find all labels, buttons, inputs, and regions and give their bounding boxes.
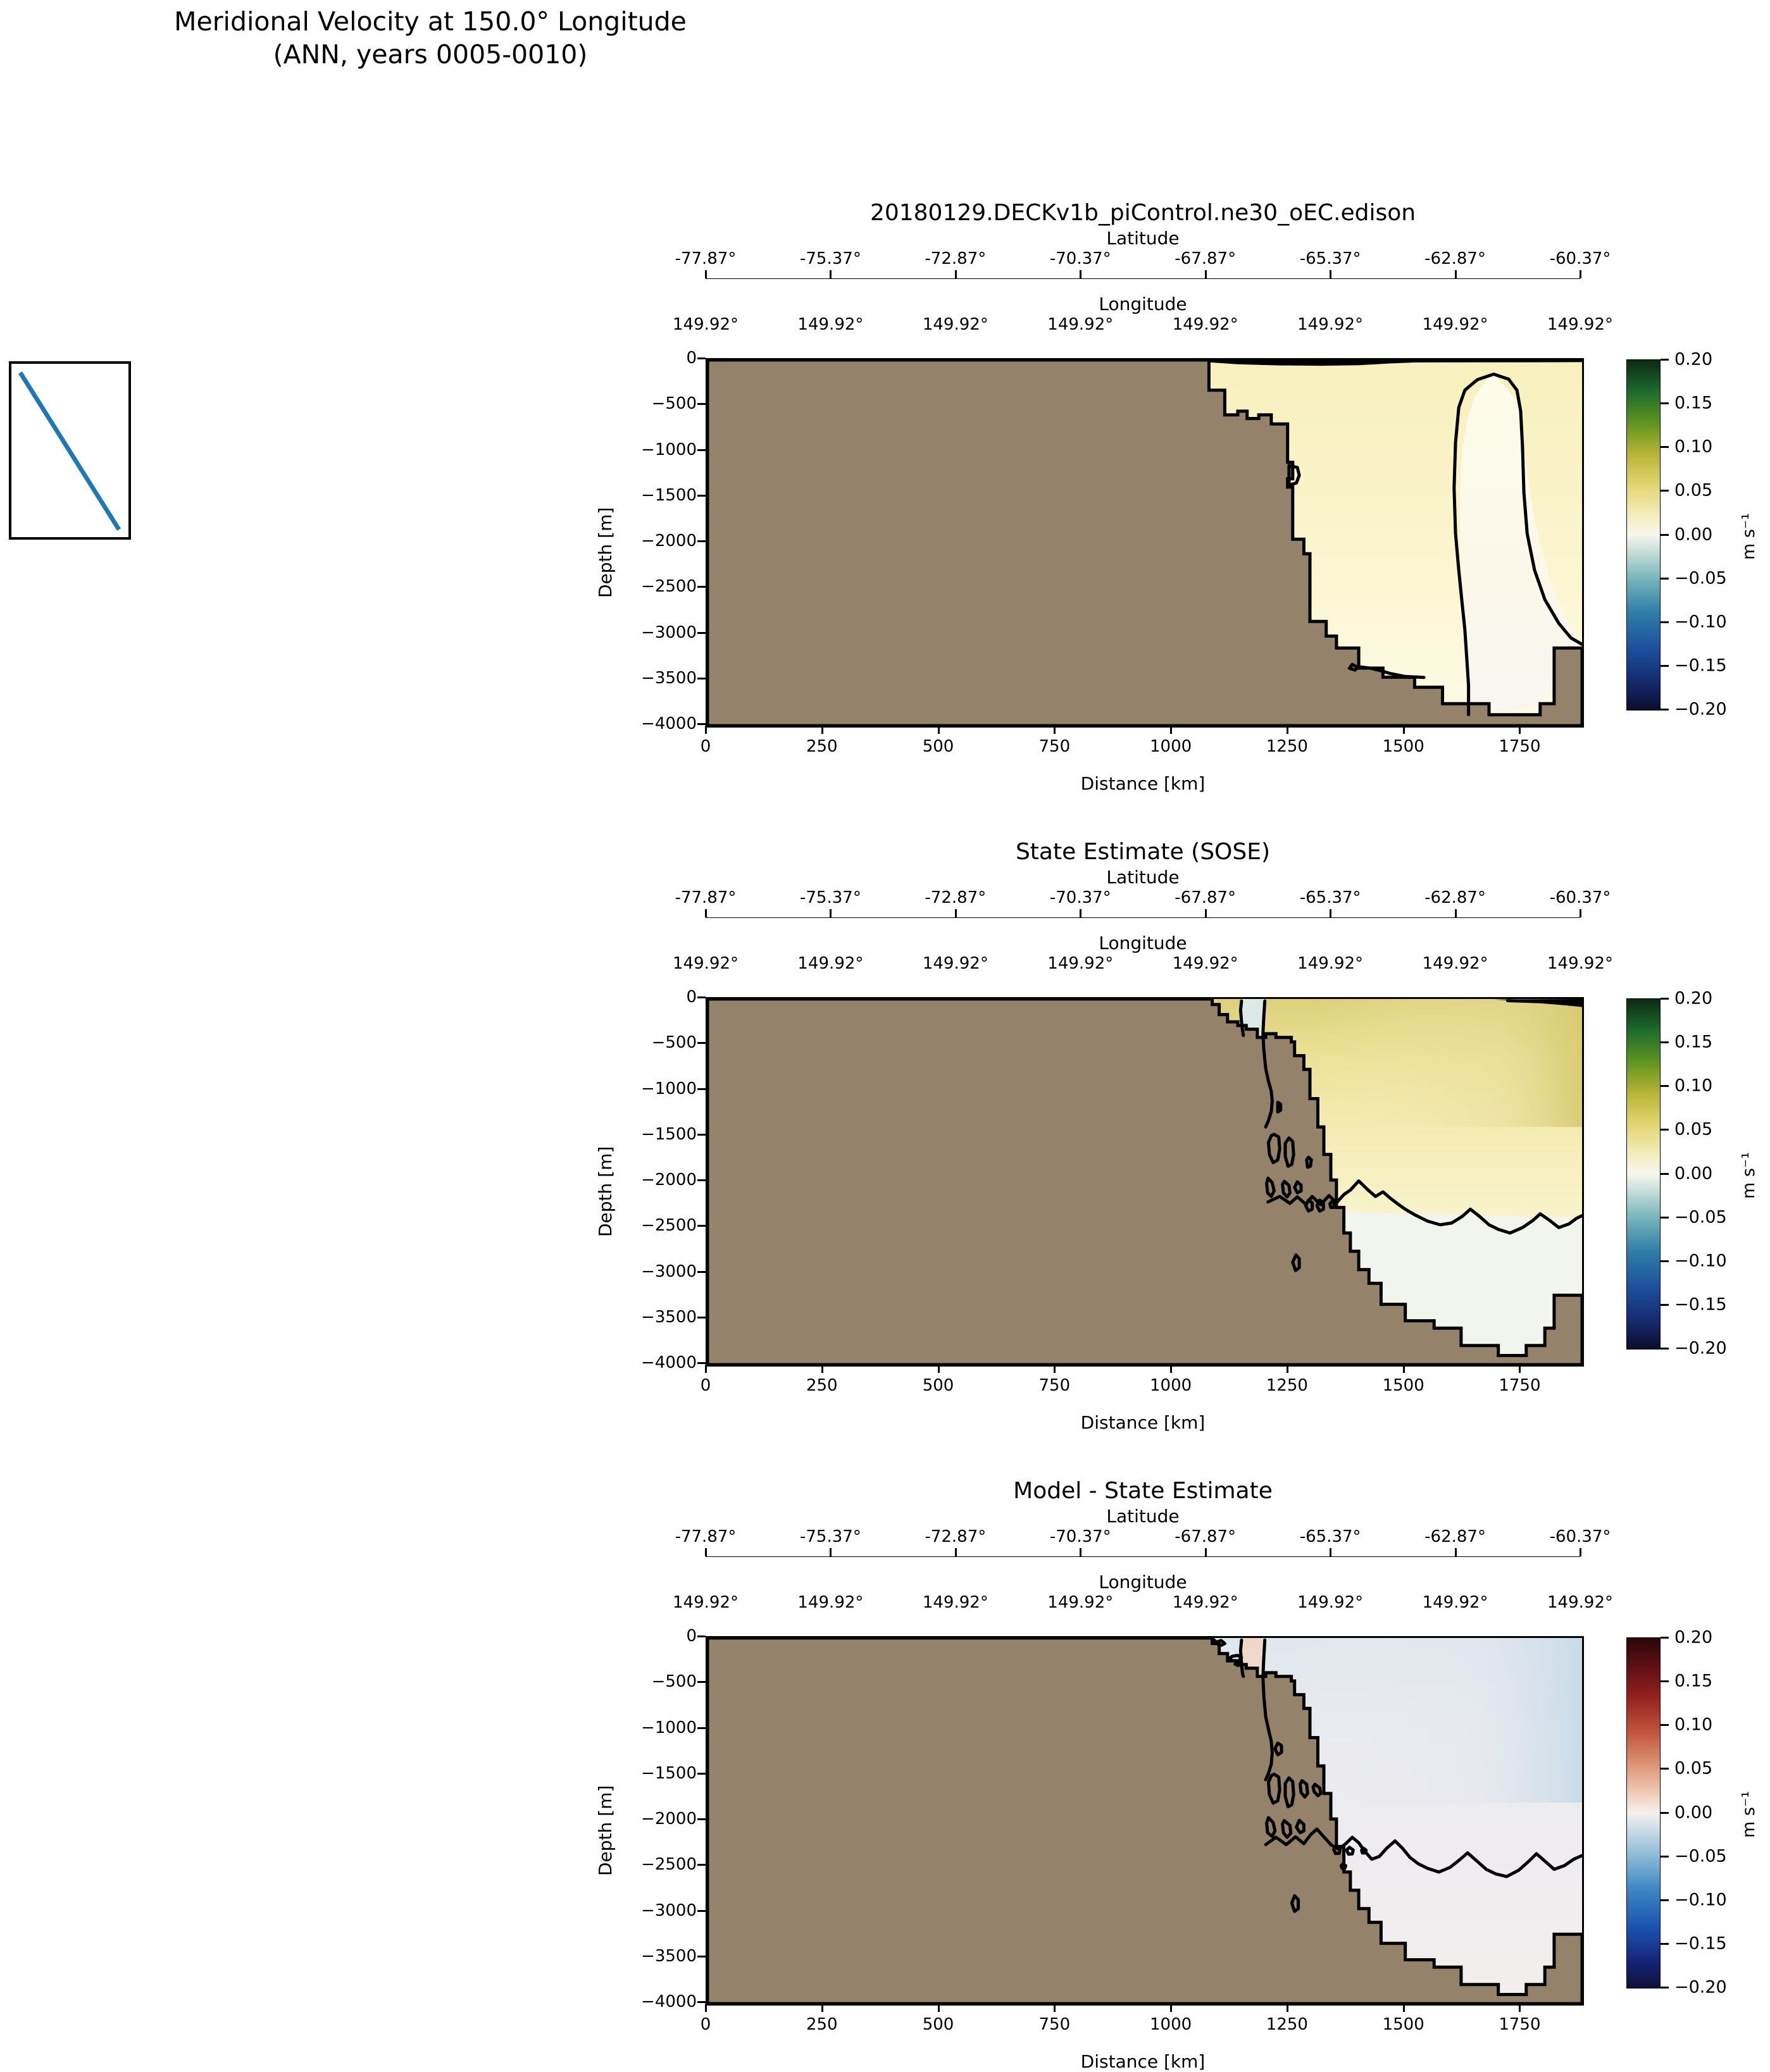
colorbar-tick-mark <box>1661 621 1669 623</box>
latitude-tick-label: -60.37° <box>1550 249 1611 268</box>
distance-tick-label: 500 <box>923 1376 954 1395</box>
latitude-tick-mark <box>705 909 707 917</box>
depth-tick-mark <box>697 1225 706 1227</box>
longitude-tick-label: 149.92° <box>1547 1593 1613 1612</box>
latitude-axis-spine <box>706 278 1580 279</box>
longitude-tick-label: 149.92° <box>1047 315 1113 334</box>
colorbar-tick-label: 0.05 <box>1674 1759 1712 1778</box>
latitude-tick-mark <box>1205 1548 1207 1556</box>
depth-tick-mark <box>697 1271 706 1273</box>
depth-tick-mark <box>697 1179 706 1181</box>
colorbar-tick-mark <box>1661 1680 1669 1682</box>
colorbar-tick-label: 0.00 <box>1674 1163 1712 1183</box>
latitude-tick-label: -60.37° <box>1550 888 1611 907</box>
depth-tick-label: −3500 <box>641 1308 697 1327</box>
depth-tick-label: 0 <box>686 349 697 368</box>
depth-tick-label: −1500 <box>641 486 697 505</box>
latitude-tick-label: -77.87° <box>675 1527 737 1546</box>
colorbar-tick-label: −0.05 <box>1674 1846 1727 1866</box>
longitude-tick-label: 149.92° <box>1297 954 1363 973</box>
distance-axis-label: Distance [km] <box>706 1412 1580 1433</box>
longitude-tick-label: 149.92° <box>1297 315 1363 334</box>
colorbar-tick-mark <box>1661 490 1669 492</box>
longitude-tick-label: 149.92° <box>923 1593 988 1612</box>
distance-tick-mark <box>938 726 940 734</box>
depth-tick-label: 0 <box>686 1627 697 1646</box>
latitude-tick-label: -70.37° <box>1050 1527 1111 1546</box>
distance-tick-mark <box>1403 1365 1405 1373</box>
colorbar-tick-label: 0.00 <box>1674 1802 1712 1822</box>
distance-tick-mark <box>1287 2004 1288 2012</box>
latitude-tick-mark <box>955 909 957 917</box>
latitude-tick-label: -65.37° <box>1300 888 1361 907</box>
distance-tick-mark <box>1170 2004 1172 2012</box>
panel-title: 20180129.DECKv1b_piControl.ne30_oEC.edis… <box>706 200 1580 226</box>
distance-tick-label: 1000 <box>1150 1376 1192 1395</box>
depth-axis-label: Depth [m] <box>595 1146 616 1237</box>
colorbar-tick-mark <box>1661 709 1669 710</box>
latitude-tick-labels: -77.87°-75.37°-72.87°-70.37°-67.87°-65.3… <box>706 888 1580 910</box>
latitude-axis-label: Latitude <box>706 1506 1580 1527</box>
distance-tick-mark <box>1170 1365 1172 1373</box>
distance-tick-label: 1250 <box>1266 1376 1308 1395</box>
colorbar-ticks: 0.200.150.100.050.00−0.05−0.10−0.15−0.20 <box>1661 359 1743 709</box>
depth-tick-label: −4000 <box>641 714 697 733</box>
velocity-field <box>707 999 1582 1365</box>
colorbar-tick-mark <box>1661 1260 1669 1262</box>
depth-tick-mark <box>697 540 706 542</box>
latitude-tick-mark <box>1330 909 1331 917</box>
latitude-tick-label: -65.37° <box>1300 1527 1361 1546</box>
colorbar <box>1626 998 1661 1349</box>
longitude-tick-label: 149.92° <box>1423 1593 1488 1612</box>
distance-tick-mark <box>1054 1365 1056 1373</box>
colorbar-tick-mark <box>1661 578 1669 580</box>
depth-axis: 0−500−1000−1500−2000−2500−3000−3500−4000 <box>649 997 706 1363</box>
colorbar-ticks: 0.200.150.100.050.00−0.05−0.10−0.15−0.20 <box>1661 998 1743 1348</box>
latitude-tick-mark <box>1205 909 1207 917</box>
longitude-tick-label: 149.92° <box>1047 954 1113 973</box>
colorbar <box>1626 359 1661 710</box>
distance-tick-label: 0 <box>701 2015 711 2034</box>
depth-tick-mark <box>697 1773 706 1775</box>
distance-tick-mark <box>705 2004 707 2012</box>
colorbar-tick-mark <box>1661 402 1669 404</box>
depth-tick-mark <box>697 1818 706 1820</box>
latitude-axis-spine <box>706 917 1580 918</box>
distance-tick-label: 1750 <box>1499 1376 1540 1395</box>
colorbar-tick-mark <box>1661 1637 1669 1639</box>
depth-tick-label: −3000 <box>641 1262 697 1281</box>
colorbar-tick-label: −0.20 <box>1674 1339 1727 1358</box>
depth-tick-label: −4000 <box>641 1353 697 1372</box>
colorbar-tick-label: 0.10 <box>1674 437 1712 457</box>
latitude-tick-label: -65.37° <box>1300 249 1361 268</box>
distance-tick-mark <box>705 726 707 734</box>
depth-tick-mark <box>697 678 706 679</box>
latitude-tick-mark <box>1080 1548 1081 1556</box>
longitude-tick-label: 149.92° <box>1047 1593 1113 1612</box>
depth-tick-label: −500 <box>652 394 697 413</box>
distance-tick-mark <box>1054 2004 1056 2012</box>
depth-tick-mark <box>697 1134 706 1136</box>
colorbar-tick-label: −0.15 <box>1674 655 1727 675</box>
latitude-tick-label: -62.87° <box>1424 1527 1486 1546</box>
depth-tick-label: −500 <box>652 1033 697 1052</box>
distance-tick-mark <box>1403 2004 1405 2012</box>
depth-tick-label: −1000 <box>641 1718 697 1737</box>
colorbar-tick-mark <box>1661 359 1669 361</box>
latitude-tick-label: -72.87° <box>925 249 986 268</box>
suptitle-line-1: Meridional Velocity at 150.0° Longitude <box>0 5 861 38</box>
section-plot-area <box>706 997 1584 1367</box>
depth-tick-label: −4000 <box>641 1992 697 2011</box>
colorbar-tick-mark <box>1661 1173 1669 1175</box>
depth-tick-label: −2000 <box>641 1170 697 1189</box>
longitude-tick-labels: 149.92°149.92°149.92°149.92°149.92°149.9… <box>706 954 1580 976</box>
latitude-tick-label: -60.37° <box>1550 1527 1611 1546</box>
velocity-field <box>707 1638 1582 2004</box>
colorbar-tick-mark <box>1661 534 1669 536</box>
distance-tick-label: 1750 <box>1499 737 1540 756</box>
colorbar-unit-label: m s⁻¹ <box>1739 1790 1759 1837</box>
latitude-tick-labels: -77.87°-75.37°-72.87°-70.37°-67.87°-65.3… <box>706 249 1580 271</box>
latitude-tick-label: -67.87° <box>1175 888 1236 907</box>
depth-tick-label: 0 <box>686 988 697 1007</box>
latitude-tick-label: -70.37° <box>1050 249 1111 268</box>
longitude-tick-label: 149.92° <box>797 954 863 973</box>
depth-tick-mark <box>697 403 706 405</box>
colorbar-tick-label: 0.00 <box>1674 524 1712 544</box>
depth-tick-mark <box>697 1864 706 1866</box>
depth-axis-label: Depth [m] <box>595 1785 616 1876</box>
colorbar-tick-label: 0.20 <box>1674 350 1712 369</box>
distance-tick-mark <box>1403 726 1405 734</box>
latitude-tick-mark <box>1455 1548 1457 1556</box>
colorbar-tick-label: 0.15 <box>1674 394 1712 413</box>
distance-tick-mark <box>1287 726 1288 734</box>
distance-tick-label: 250 <box>806 737 838 756</box>
colorbar-tick-mark <box>1661 1304 1669 1306</box>
distance-tick-label: 1250 <box>1266 737 1308 756</box>
suptitle-line-2: (ANN, years 0005-0010) <box>0 38 861 71</box>
latitude-tick-mark <box>1580 270 1581 278</box>
depth-tick-label: −3500 <box>641 1947 697 1966</box>
colorbar-unit-label: m s⁻¹ <box>1739 1151 1759 1198</box>
depth-tick-mark <box>697 357 706 359</box>
latitude-tick-mark <box>1580 909 1581 917</box>
distance-axis: 02505007501000125015001750 <box>706 1365 1580 1396</box>
latitude-tick-mark <box>955 1548 957 1556</box>
longitude-tick-label: 149.92° <box>673 1593 739 1612</box>
colorbar-tick-mark <box>1661 1041 1669 1043</box>
distance-tick-label: 750 <box>1039 2015 1071 2034</box>
colorbar-tick-label: 0.05 <box>1674 1120 1712 1139</box>
colorbar-tick-label: −0.15 <box>1674 1933 1727 1953</box>
depth-tick-label: −3500 <box>641 669 697 688</box>
latitude-tick-label: -77.87° <box>675 888 737 907</box>
colorbar-tick-label: 0.15 <box>1674 1672 1712 1691</box>
colorbar-tick-label: 0.05 <box>1674 481 1712 500</box>
distance-tick-mark <box>821 1365 823 1373</box>
distance-tick-mark <box>821 2004 823 2012</box>
panel-title: State Estimate (SOSE) <box>706 839 1580 865</box>
latitude-tick-label: -62.87° <box>1424 888 1486 907</box>
distance-tick-mark <box>1170 726 1172 734</box>
colorbar-tick-label: 0.10 <box>1674 1076 1712 1096</box>
depth-tick-label: −1000 <box>641 440 697 459</box>
longitude-tick-labels: 149.92°149.92°149.92°149.92°149.92°149.9… <box>706 1593 1580 1615</box>
latitude-tick-label: -75.37° <box>800 1527 861 1546</box>
latitude-tick-mark <box>1455 270 1457 278</box>
latitude-axis-label: Latitude <box>706 228 1580 249</box>
colorbar-tick-label: −0.10 <box>1674 1890 1727 1909</box>
distance-tick-label: 1000 <box>1150 2015 1192 2034</box>
depth-tick-mark <box>697 632 706 634</box>
latitude-tick-mark <box>1205 270 1207 278</box>
latitude-tick-label: -70.37° <box>1050 888 1111 907</box>
distance-tick-mark <box>1287 1365 1288 1373</box>
panel-title: Model - State Estimate <box>706 1478 1580 1504</box>
longitude-tick-label: 149.92° <box>1423 315 1488 334</box>
longitude-tick-label: 149.92° <box>1547 954 1613 973</box>
latitude-tick-labels: -77.87°-75.37°-72.87°-70.37°-67.87°-65.3… <box>706 1527 1580 1549</box>
latitude-tick-label: -72.87° <box>925 888 986 907</box>
colorbar-tick-mark <box>1661 1724 1669 1726</box>
distance-tick-mark <box>938 2004 940 2012</box>
depth-tick-mark <box>697 1088 706 1090</box>
longitude-tick-label: 149.92° <box>1173 315 1238 334</box>
depth-tick-mark <box>697 996 706 998</box>
distance-axis: 02505007501000125015001750 <box>706 2004 1580 2035</box>
longitude-tick-label: 149.92° <box>923 315 988 334</box>
latitude-tick-mark <box>1580 1548 1581 1556</box>
colorbar-tick-label: −0.10 <box>1674 1251 1727 1270</box>
longitude-axis-label: Longitude <box>706 933 1580 953</box>
colorbar-tick-mark <box>1661 1812 1669 1814</box>
distance-tick-mark <box>1519 1365 1521 1373</box>
longitude-axis-label: Longitude <box>706 294 1580 314</box>
colorbar-tick-mark <box>1661 1348 1669 1349</box>
latitude-tick-mark <box>830 909 832 917</box>
depth-tick-label: −1500 <box>641 1764 697 1783</box>
colorbar <box>1626 1637 1661 1988</box>
longitude-tick-label: 149.92° <box>797 315 863 334</box>
latitude-tick-label: -67.87° <box>1175 249 1236 268</box>
depth-axis-label: Depth [m] <box>595 507 616 598</box>
colorbar-tick-label: 0.10 <box>1674 1715 1712 1735</box>
depth-tick-mark <box>697 495 706 497</box>
distance-tick-label: 1500 <box>1383 2015 1424 2034</box>
latitude-axis-spine <box>706 1556 1580 1557</box>
longitude-tick-label: 149.92° <box>673 954 739 973</box>
latitude-tick-label: -67.87° <box>1175 1527 1236 1546</box>
distance-tick-label: 250 <box>806 2015 838 2034</box>
latitude-tick-label: -72.87° <box>925 1527 986 1546</box>
latitude-tick-mark <box>1080 909 1081 917</box>
section-plot-area <box>706 1636 1584 2006</box>
depth-tick-label: −2500 <box>641 1216 697 1235</box>
transect-line <box>11 364 128 537</box>
latitude-tick-mark <box>1330 270 1331 278</box>
latitude-tick-mark <box>830 270 832 278</box>
distance-tick-mark <box>821 726 823 734</box>
latitude-tick-mark <box>1080 270 1081 278</box>
colorbar-tick-label: 0.20 <box>1674 1628 1712 1647</box>
latitude-tick-mark <box>1330 1548 1331 1556</box>
colorbar-tick-label: −0.05 <box>1674 568 1727 588</box>
distance-tick-label: 1750 <box>1499 2015 1540 2034</box>
depth-tick-mark <box>697 1635 706 1637</box>
depth-axis: 0−500−1000−1500−2000−2500−3000−3500−4000 <box>649 1636 706 2002</box>
depth-tick-mark <box>697 2001 706 2003</box>
depth-tick-mark <box>697 1727 706 1729</box>
longitude-tick-label: 149.92° <box>797 1593 863 1612</box>
distance-tick-mark <box>1519 2004 1521 2012</box>
colorbar-tick-label: 0.15 <box>1674 1033 1712 1052</box>
colorbar-tick-mark <box>1661 1987 1669 1988</box>
latitude-tick-mark <box>1455 909 1457 917</box>
latitude-tick-label: -75.37° <box>800 249 861 268</box>
distance-tick-label: 250 <box>806 1376 838 1395</box>
depth-tick-label: −1000 <box>641 1079 697 1098</box>
colorbar-tick-mark <box>1661 1085 1669 1087</box>
colorbar-tick-label: −0.15 <box>1674 1294 1727 1314</box>
distance-tick-label: 1250 <box>1266 2015 1308 2034</box>
distance-tick-label: 750 <box>1039 1376 1071 1395</box>
colorbar-tick-mark <box>1661 1768 1669 1770</box>
longitude-tick-label: 149.92° <box>923 954 988 973</box>
distance-tick-label: 0 <box>701 1376 711 1395</box>
colorbar-tick-mark <box>1661 1129 1669 1131</box>
longitude-tick-label: 149.92° <box>1423 954 1488 973</box>
distance-axis-label: Distance [km] <box>706 773 1580 794</box>
distance-tick-label: 750 <box>1039 737 1071 756</box>
colorbar-tick-label: −0.20 <box>1674 700 1727 719</box>
transect-locator-map <box>9 361 131 540</box>
distance-axis-label: Distance [km] <box>706 2051 1580 2072</box>
colorbar-tick-label: −0.10 <box>1674 612 1727 631</box>
latitude-tick-label: -75.37° <box>800 888 861 907</box>
distance-tick-mark <box>1519 726 1521 734</box>
depth-tick-label: −3000 <box>641 1901 697 1920</box>
distance-tick-label: 1500 <box>1383 737 1424 756</box>
distance-tick-label: 0 <box>701 737 711 756</box>
depth-tick-mark <box>697 1681 706 1683</box>
velocity-field <box>707 360 1582 726</box>
depth-tick-label: −3000 <box>641 623 697 642</box>
latitude-tick-mark <box>955 270 957 278</box>
latitude-tick-label: -62.87° <box>1424 249 1486 268</box>
longitude-tick-label: 149.92° <box>1173 954 1238 973</box>
colorbar-unit-label: m s⁻¹ <box>1739 512 1759 559</box>
depth-tick-mark <box>697 723 706 725</box>
latitude-tick-mark <box>705 270 707 278</box>
depth-tick-mark <box>697 1910 706 1912</box>
distance-axis: 02505007501000125015001750 <box>706 726 1580 757</box>
longitude-tick-label: 149.92° <box>1173 1593 1238 1612</box>
colorbar-tick-mark <box>1661 1943 1669 1945</box>
longitude-axis-label: Longitude <box>706 1572 1580 1592</box>
distance-tick-mark <box>1054 726 1056 734</box>
latitude-tick-label: -77.87° <box>675 249 737 268</box>
depth-tick-mark <box>697 1317 706 1318</box>
latitude-tick-mark <box>830 1548 832 1556</box>
figure-suptitle: Meridional Velocity at 150.0° Longitude … <box>0 5 861 71</box>
colorbar-tick-mark <box>1661 1899 1669 1901</box>
distance-tick-label: 1000 <box>1150 737 1192 756</box>
depth-tick-label: −2500 <box>641 1855 697 1874</box>
latitude-axis-label: Latitude <box>706 867 1580 888</box>
depth-tick-label: −1500 <box>641 1125 697 1144</box>
longitude-tick-label: 149.92° <box>1297 1593 1363 1612</box>
distance-tick-label: 500 <box>923 737 954 756</box>
colorbar-tick-label: −0.20 <box>1674 1978 1727 1997</box>
distance-tick-label: 1500 <box>1383 1376 1424 1395</box>
colorbar-tick-mark <box>1661 1217 1669 1219</box>
colorbar-ticks: 0.200.150.100.050.00−0.05−0.10−0.15−0.20 <box>1661 1637 1743 1987</box>
section-plot-area <box>706 358 1584 728</box>
depth-tick-label: −2000 <box>641 1809 697 1828</box>
depth-tick-label: −2500 <box>641 577 697 596</box>
longitude-tick-labels: 149.92°149.92°149.92°149.92°149.92°149.9… <box>706 315 1580 337</box>
depth-tick-mark <box>697 1956 706 1957</box>
distance-tick-mark <box>938 1365 940 1373</box>
colorbar-tick-mark <box>1661 446 1669 448</box>
distance-tick-label: 500 <box>923 2015 954 2034</box>
longitude-tick-label: 149.92° <box>1547 315 1613 334</box>
depth-tick-label: −2000 <box>641 531 697 550</box>
colorbar-tick-label: −0.05 <box>1674 1207 1727 1227</box>
depth-tick-label: −500 <box>652 1672 697 1691</box>
colorbar-tick-mark <box>1661 1856 1669 1858</box>
distance-tick-mark <box>705 1365 707 1373</box>
depth-tick-mark <box>697 586 706 588</box>
colorbar-tick-mark <box>1661 998 1669 1000</box>
depth-tick-mark <box>697 449 706 451</box>
depth-tick-mark <box>697 1362 706 1364</box>
colorbar-tick-mark <box>1661 665 1669 667</box>
latitude-tick-mark <box>705 1548 707 1556</box>
depth-axis: 0−500−1000−1500−2000−2500−3000−3500−4000 <box>649 358 706 724</box>
colorbar-tick-label: 0.20 <box>1674 989 1712 1008</box>
depth-tick-mark <box>697 1042 706 1044</box>
longitude-tick-label: 149.92° <box>673 315 739 334</box>
